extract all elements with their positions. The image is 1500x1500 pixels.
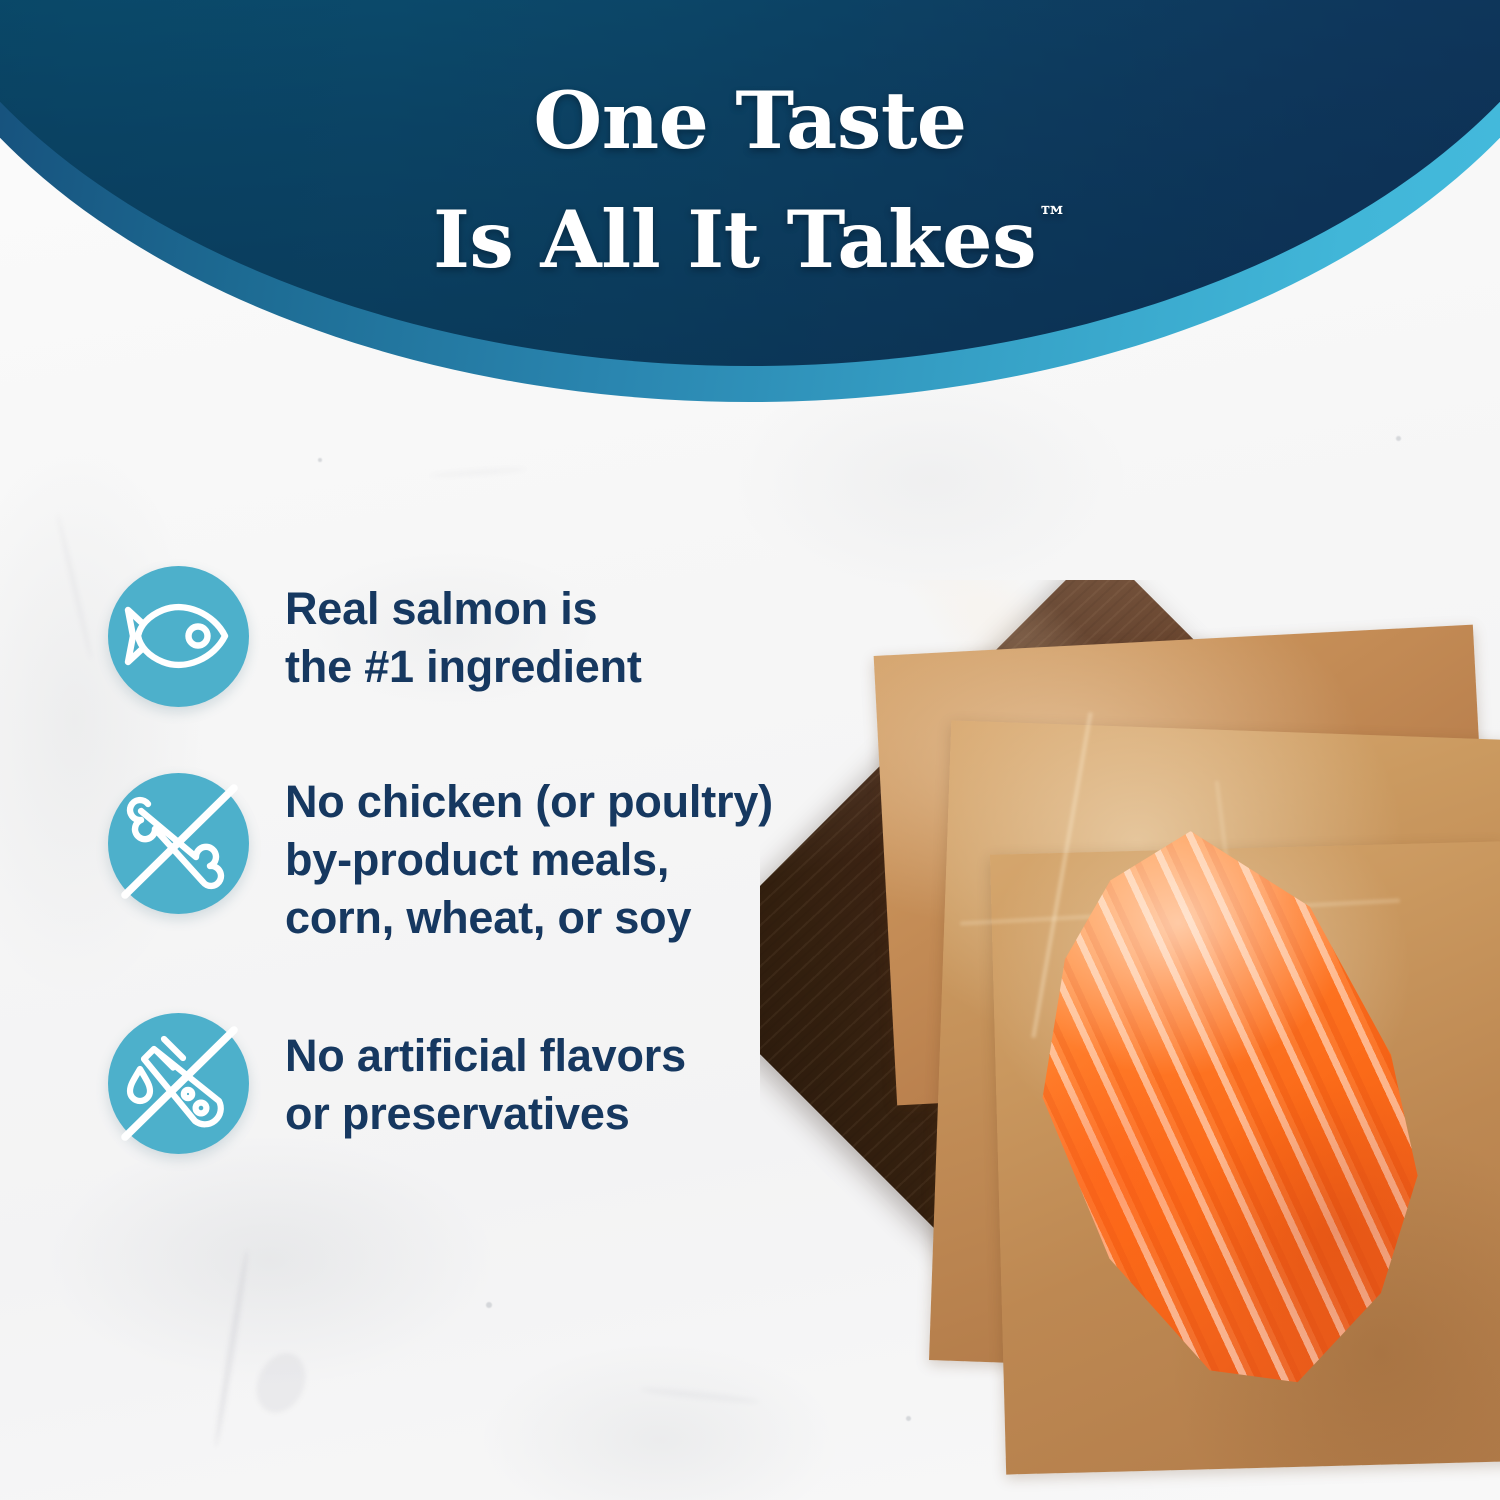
feature-item-real-salmon: Real salmon is the #1 ingredient [108, 566, 878, 707]
trademark-symbol: ™ [1038, 200, 1067, 234]
fish-icon [108, 566, 249, 707]
headline-line-2-text: Is All It Takes [433, 193, 1036, 286]
feature-list: Real salmon is the #1 ingredient No chic… [108, 566, 878, 1154]
headline-line-1: One Taste [0, 72, 1500, 169]
marble-speck [486, 1302, 492, 1308]
no-test-tube-icon [108, 1013, 249, 1154]
feature-item-no-byproduct: No chicken (or poultry) by-product meals… [108, 773, 878, 947]
feature-label: No artificial flavors or preservatives [285, 1013, 686, 1143]
headline-line-2: Is All It Takes™ [0, 169, 1500, 288]
feature-label: Real salmon is the #1 ingredient [285, 566, 642, 696]
feature-item-no-artificial: No artificial flavors or preservatives [108, 1013, 878, 1154]
feature-label: No chicken (or poultry) by-product meals… [285, 773, 773, 947]
product-feature-poster: One Taste Is All It Takes™ [0, 0, 1500, 1500]
page-title: One Taste Is All It Takes™ [0, 72, 1500, 288]
no-bone-icon [108, 773, 249, 914]
